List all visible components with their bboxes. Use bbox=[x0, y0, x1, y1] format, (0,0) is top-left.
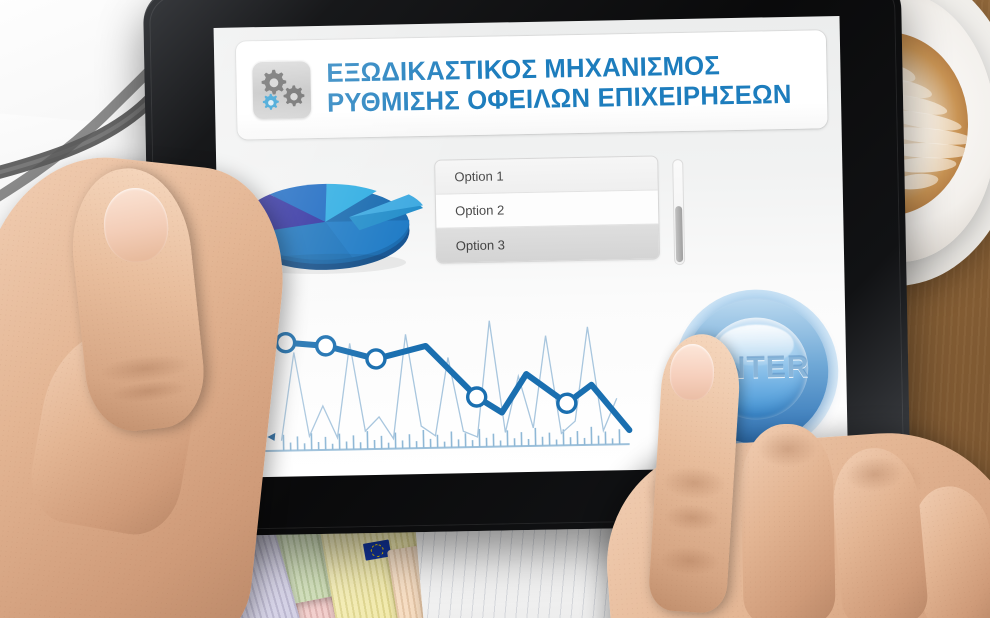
gears-icon bbox=[252, 60, 311, 119]
option-list[interactable]: Option 1 Option 2 Option 3 bbox=[434, 155, 694, 264]
tablet-device: ΕΞΩΔΙΚΑΣΤΙΚΟΣ ΜΗΧΑΝΙΣΜΟΣ ΡΥΘΜΙΣΗΣ ΟΦΕΙΛΩ… bbox=[143, 0, 911, 537]
list-item-option-1[interactable]: Option 1 bbox=[435, 156, 658, 194]
app-title-line-2: ΡΥΘΜΙΣΗΣ ΟΦΕΙΛΩΝ ΕΠΙΧΕΙΡΗΣΕΩΝ bbox=[327, 80, 792, 119]
scrollbar-thumb[interactable] bbox=[675, 206, 683, 262]
screenshot-scene: ΕΞΩΔΙΚΑΣΤΙΚΟΣ ΜΗΧΑΝΙΣΜΟΣ ΡΥΘΜΙΣΗΣ ΟΦΕΙΛΩ… bbox=[0, 0, 990, 618]
option-label: Option 1 bbox=[454, 168, 503, 184]
app-header: ΕΞΩΔΙΚΑΣΤΙΚΟΣ ΜΗΧΑΝΙΣΜΟΣ ΡΥΘΜΙΣΗΣ ΟΦΕΙΛΩ… bbox=[236, 30, 828, 139]
list-item-option-3[interactable]: Option 3 bbox=[436, 224, 659, 262]
option-list-box[interactable]: Option 1 Option 2 Option 3 bbox=[434, 155, 660, 263]
option-label: Option 2 bbox=[455, 202, 504, 218]
enter-button-label: ENTER bbox=[703, 351, 810, 387]
option-label: Option 3 bbox=[456, 237, 505, 253]
pie-chart bbox=[232, 158, 424, 287]
line-chart bbox=[235, 302, 638, 470]
app-title: ΕΞΩΔΙΚΑΣΤΙΚΟΣ ΜΗΧΑΝΙΣΜΟΣ ΡΥΘΜΙΣΗΣ ΟΦΕΙΛΩ… bbox=[326, 50, 806, 119]
enter-button[interactable]: ENTER bbox=[673, 288, 840, 455]
list-item-option-2[interactable]: Option 2 bbox=[436, 190, 659, 228]
enter-button-face[interactable]: ENTER bbox=[703, 317, 809, 421]
tablet-screen[interactable]: ΕΞΩΔΙΚΑΣΤΙΚΟΣ ΜΗΧΑΝΙΣΜΟΣ ΡΥΘΜΙΣΗΣ ΟΦΕΙΛΩ… bbox=[214, 16, 849, 478]
list-scrollbar[interactable] bbox=[672, 159, 685, 265]
